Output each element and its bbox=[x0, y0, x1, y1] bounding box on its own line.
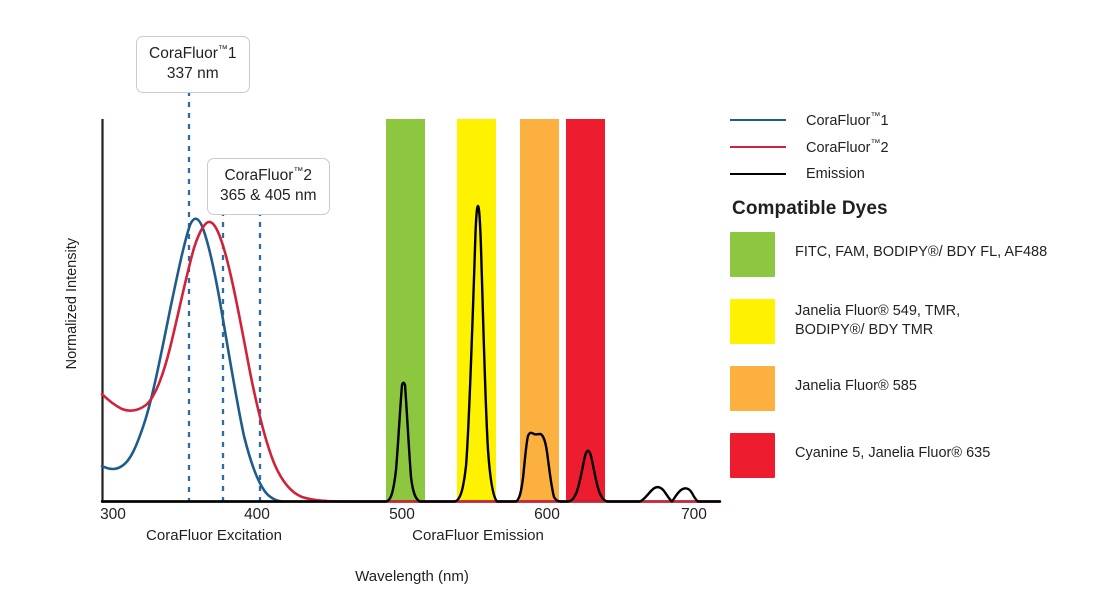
x-tick-300: 300 bbox=[100, 506, 126, 524]
figure-root: CoraFluor™1 337 nm CoraFluor™2 365 & 405… bbox=[0, 0, 1110, 612]
callout-corafluor1: CoraFluor™1 337 nm bbox=[136, 36, 250, 93]
legend-item-corafluor1: CoraFluor™1 bbox=[730, 106, 1100, 133]
legend-line-icon bbox=[730, 146, 786, 148]
compatible-dyes-list: FITC, FAM, BODIPY®/ BDY FL, AF488 Janeli… bbox=[730, 232, 1110, 500]
dye-item-yellow: Janelia Fluor® 549, TMR,BODIPY®/ BDY TMR bbox=[730, 299, 1110, 344]
x-axis-title: Wavelength (nm) bbox=[355, 568, 469, 585]
dye-label: Cyanine 5, Janelia Fluor® 635 bbox=[795, 433, 990, 463]
green-band bbox=[386, 119, 425, 501]
dye-swatch-yellow bbox=[730, 299, 775, 344]
dye-label: Janelia Fluor® 585 bbox=[795, 366, 917, 396]
compatible-dyes-title: Compatible Dyes bbox=[732, 198, 888, 220]
dye-label-line1: Janelia Fluor® 549, TMR, bbox=[795, 303, 960, 319]
legend-item-label: CoraFluor™1 bbox=[806, 111, 889, 129]
callout-corafluor1-line1: CoraFluor™1 bbox=[149, 45, 237, 62]
series-corafluor1-curve bbox=[102, 219, 282, 502]
callout-corafluor2: CoraFluor™2 365 & 405 nm bbox=[207, 158, 330, 215]
yellow-band bbox=[457, 119, 496, 501]
callout-corafluor2-line1: CoraFluor™2 bbox=[224, 167, 312, 184]
callout-corafluor1-line2: 337 nm bbox=[149, 64, 237, 84]
dye-label: Janelia Fluor® 549, TMR,BODIPY®/ BDY TMR bbox=[795, 299, 960, 341]
x-tick-400: 400 bbox=[244, 506, 270, 524]
right-panel: CoraFluor™1 CoraFluor™2 Emission Compati… bbox=[730, 0, 1110, 612]
excitation-marker-lines bbox=[189, 80, 260, 501]
dye-swatch-red bbox=[730, 433, 775, 478]
trademark-symbol: ™ bbox=[870, 111, 880, 122]
x-tick-600: 600 bbox=[534, 506, 560, 524]
red-band bbox=[566, 119, 605, 501]
y-axis-label: Normalized Intensity bbox=[64, 238, 80, 369]
legend-item-corafluor2: CoraFluor™2 bbox=[730, 133, 1100, 160]
x-tick-700: 700 bbox=[681, 506, 707, 524]
legend-item-label: Emission bbox=[806, 166, 865, 182]
plot-area: CoraFluor™1 337 nm CoraFluor™2 365 & 405… bbox=[0, 0, 740, 612]
dye-swatch-green bbox=[730, 232, 775, 277]
callout-corafluor2-line2: 365 & 405 nm bbox=[220, 186, 317, 206]
legend-line-icon bbox=[730, 173, 786, 175]
emission-bands bbox=[386, 119, 605, 501]
dye-label-line2: BODIPY®/ BDY TMR bbox=[795, 322, 933, 338]
dye-item-red: Cyanine 5, Janelia Fluor® 635 bbox=[730, 433, 1110, 478]
dye-item-orange: Janelia Fluor® 585 bbox=[730, 366, 1110, 411]
trademark-symbol: ™ bbox=[293, 166, 303, 177]
dye-swatch-orange bbox=[730, 366, 775, 411]
x-tick-500: 500 bbox=[389, 506, 415, 524]
legend-line-icon bbox=[730, 119, 786, 121]
dye-label: FITC, FAM, BODIPY®/ BDY FL, AF488 bbox=[795, 232, 1047, 262]
legend-item-emission: Emission bbox=[730, 160, 1100, 187]
section-label-excitation: CoraFluor Excitation bbox=[146, 527, 282, 544]
dye-item-green: FITC, FAM, BODIPY®/ BDY FL, AF488 bbox=[730, 232, 1110, 277]
section-label-emission: CoraFluor Emission bbox=[412, 527, 544, 544]
legend: CoraFluor™1 CoraFluor™2 Emission bbox=[730, 106, 1100, 187]
trademark-symbol: ™ bbox=[870, 138, 880, 149]
trademark-symbol: ™ bbox=[218, 44, 228, 55]
legend-item-label: CoraFluor™2 bbox=[806, 138, 889, 156]
